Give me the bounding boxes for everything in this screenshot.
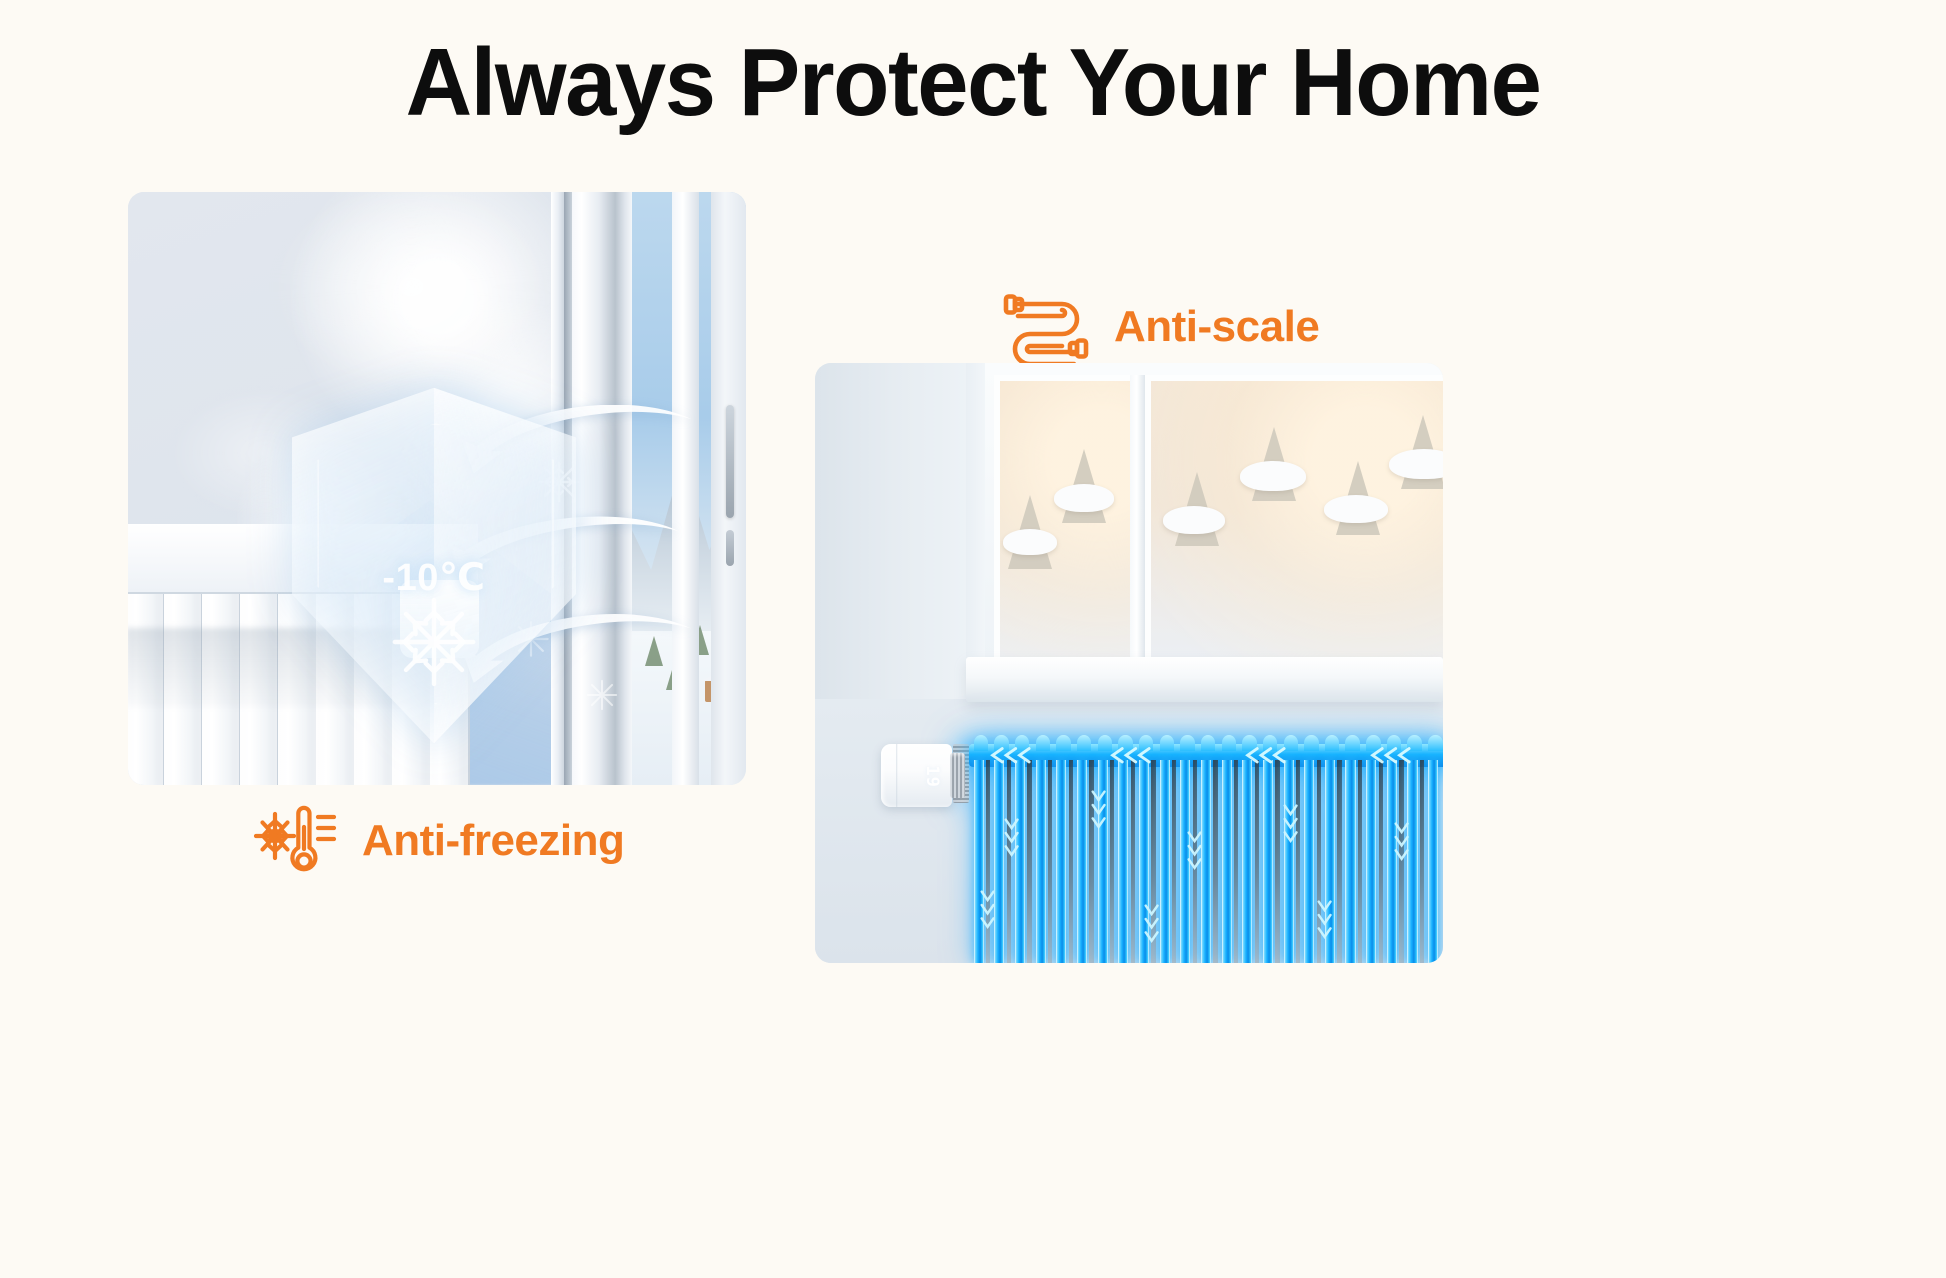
- chevron-flow-icon: [1392, 817, 1411, 867]
- chevron-flow-icon: [1363, 745, 1421, 766]
- chevron-flow-icon: [1002, 813, 1021, 863]
- valve-seam: [896, 744, 899, 807]
- poster-canvas: Always Protect Your Home: [0, 0, 1946, 1278]
- left-feature-image: -10℃: [128, 192, 746, 785]
- glowing-radiator: [969, 735, 1443, 963]
- window-hinge-upper: [726, 405, 735, 518]
- chevron-flow-icon: [978, 885, 997, 935]
- chevron-flow-icon: [1281, 799, 1300, 849]
- chevron-flow-icon: [983, 745, 1041, 766]
- feature-label-anti-freezing: Anti-freezing: [252, 800, 624, 882]
- snowflake-thermometer-icon: [252, 800, 340, 882]
- page-title: Always Protect Your Home: [39, 28, 1907, 138]
- snowflake-icon: [585, 678, 619, 712]
- chevron-flow-icon: [1238, 745, 1296, 766]
- window-frame-inner: [672, 192, 699, 785]
- chevron-flow-icon: [1089, 785, 1108, 835]
- protection-shield: -10℃: [292, 388, 576, 744]
- pipe-coil-icon: [1000, 288, 1092, 366]
- chevron-flow-icon: [1185, 826, 1204, 876]
- smart-thermostat-valve[interactable]: 19: [881, 744, 972, 807]
- window-sill: [966, 657, 1443, 702]
- chevron-flow-icon: [1142, 899, 1161, 949]
- valve-display: 19: [915, 761, 950, 792]
- valve-nut: [950, 753, 965, 798]
- feature-label-text: Anti-scale: [1114, 302, 1319, 352]
- feature-label-text: Anti-freezing: [362, 816, 624, 866]
- feature-label-anti-scale: Anti-scale: [1000, 288, 1319, 366]
- window-hinge-lower: [726, 530, 735, 566]
- chevron-flow-icon: [1103, 745, 1161, 766]
- chevron-flow-icon: [1315, 895, 1334, 945]
- right-feature-image: 19: [815, 363, 1443, 963]
- snowflake-icon: [386, 594, 482, 690]
